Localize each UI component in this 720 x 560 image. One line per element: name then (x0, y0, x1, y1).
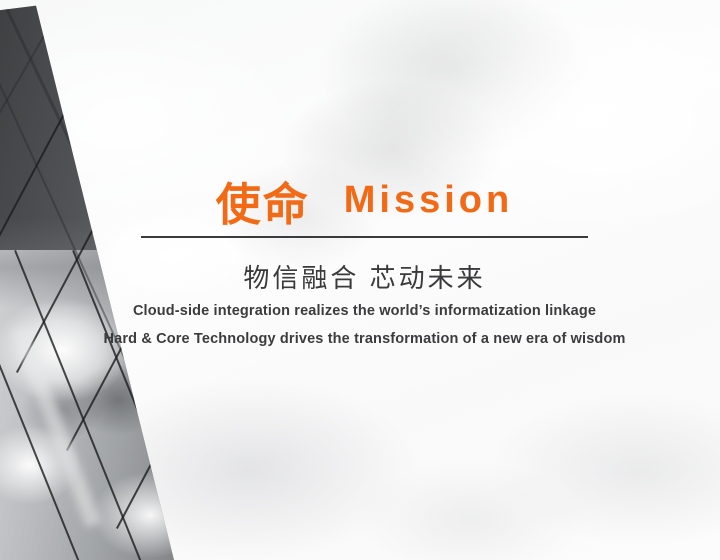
mission-banner: 使命Mission 物信融合 芯动未来 Cloud-side integrati… (0, 0, 720, 560)
page-title: 使命Mission (141, 168, 588, 233)
subtitle-chinese: 物信融合 芯动未来 (141, 258, 588, 295)
subtitle-english-line-2: Hard & Core Technology drives the transf… (61, 331, 668, 347)
page-title-english: Mission (344, 179, 513, 221)
title-divider (141, 236, 588, 238)
page-title-chinese: 使命 (216, 179, 310, 230)
subtitle-english-line-1: Cloud-side integration realizes the worl… (61, 303, 668, 319)
